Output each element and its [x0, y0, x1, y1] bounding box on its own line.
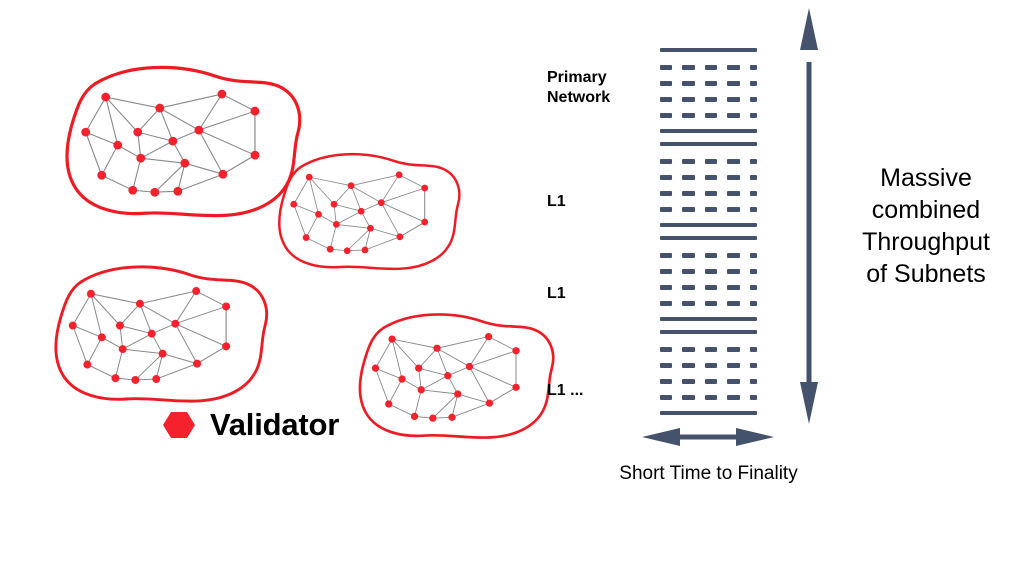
validator-node [421, 219, 428, 226]
layer-dash [750, 395, 757, 400]
layer-dash [727, 395, 739, 400]
layer-dash [682, 301, 694, 306]
layer-l1-b [660, 236, 757, 321]
validator-node [218, 90, 227, 99]
layer-dash [705, 113, 717, 118]
layer-dash [660, 253, 672, 258]
layer-dash-row [660, 97, 757, 102]
validator-node [385, 400, 392, 407]
validator-node [362, 247, 369, 254]
layer-dash [750, 81, 757, 86]
layer-dash [682, 113, 694, 118]
layer-dash [660, 285, 672, 290]
subnet-cluster-3 [45, 262, 280, 411]
layer-dash [660, 175, 672, 180]
validator-node [159, 350, 167, 358]
layer-top-rule [660, 48, 757, 52]
validator-node [444, 372, 451, 379]
layer-dash [682, 379, 694, 384]
layer-dash [750, 65, 757, 70]
validator-node [111, 374, 119, 382]
layer-dash [682, 253, 694, 258]
layer-dash [682, 395, 694, 400]
layer-dash [660, 395, 672, 400]
layer-dash [660, 301, 672, 306]
validator-node [466, 363, 473, 370]
stack-label-2: L1 [547, 192, 652, 212]
validator-node [327, 246, 334, 253]
layer-dash [727, 175, 739, 180]
validator-node [133, 128, 142, 137]
layer-dash [727, 207, 739, 212]
layer-dash-row [660, 395, 757, 400]
validator-node [101, 93, 110, 102]
layer-dash-row [660, 81, 757, 86]
layer-dash [705, 97, 717, 102]
validator-node [131, 376, 139, 384]
validator-node [331, 201, 338, 208]
layer-dash [727, 379, 739, 384]
layer-dash-row [660, 113, 757, 118]
validator-node [251, 107, 260, 116]
stack-label-3: L1 [547, 284, 652, 304]
subnet-cluster-2 [270, 150, 471, 277]
layer-dash-row [660, 175, 757, 180]
layer-dash [705, 285, 717, 290]
validator-node [378, 199, 385, 206]
layer-dash-row [660, 363, 757, 368]
layer-dash [660, 269, 672, 274]
layer-dash [682, 363, 694, 368]
layer-dash [682, 159, 694, 164]
layer-dash [727, 269, 739, 274]
subnet-cluster-4 [350, 310, 566, 446]
validator-node [98, 333, 106, 341]
validator-node [155, 104, 164, 113]
validator-node [448, 414, 455, 421]
validator-node [415, 365, 422, 372]
layer-dash [660, 159, 672, 164]
layer-dash [750, 253, 757, 258]
validator-node [418, 386, 425, 393]
layer-dash [660, 113, 672, 118]
subnet-boundary [279, 154, 459, 269]
layer-dash [705, 301, 717, 306]
layer-dash [727, 363, 739, 368]
validator-node [150, 188, 159, 197]
layer-dash-row [660, 301, 757, 306]
validator-node [87, 290, 95, 298]
layer-dash [727, 81, 739, 86]
layer-dash [705, 207, 717, 212]
layer-dash [705, 81, 717, 86]
layer-dash [727, 285, 739, 290]
layer-top-rule [660, 330, 757, 334]
validator-node [83, 361, 91, 369]
layer-dash [750, 207, 757, 212]
layer-dash [727, 65, 739, 70]
layer-dash [705, 191, 717, 196]
validator-node [180, 159, 189, 168]
layer-dash [660, 363, 672, 368]
diagram-canvas: Validator Primary NetworkL1L1L1 ... Mass… [0, 0, 1020, 571]
layer-dash [705, 175, 717, 180]
layer-dash [705, 395, 717, 400]
layer-dash-row [660, 269, 757, 274]
layer-dash [727, 97, 739, 102]
validator-node [411, 413, 418, 420]
layer-dash [705, 347, 717, 352]
layer-dash [750, 97, 757, 102]
layer-dash-row [660, 65, 757, 70]
layer-bottom-rule [660, 411, 757, 415]
validator-node [512, 347, 519, 354]
layer-top-rule [660, 142, 757, 146]
validator-node [81, 128, 90, 137]
validator-node [398, 375, 405, 382]
layer-stack [660, 48, 757, 416]
layer-dash [682, 81, 694, 86]
hexagon-icon [162, 408, 196, 442]
validator-node [306, 174, 313, 181]
layer-dash [750, 301, 757, 306]
layer-dash [660, 207, 672, 212]
validator-node [333, 221, 340, 228]
layer-bottom-rule [660, 317, 757, 321]
layer-dash [660, 347, 672, 352]
validator-node [136, 154, 145, 163]
validator-node [344, 247, 351, 254]
layer-dash [660, 81, 672, 86]
validator-node [429, 414, 436, 421]
layer-dash [727, 347, 739, 352]
validator-node [97, 171, 106, 180]
layer-dash [682, 269, 694, 274]
layer-dash [682, 97, 694, 102]
validator-node [485, 333, 492, 340]
throughput-caption: Massive combined Throughput of Subnets [836, 162, 1016, 290]
layer-dash-row [660, 159, 757, 164]
finality-arrow [640, 423, 776, 451]
validator-node [222, 302, 230, 310]
validator-node [251, 151, 260, 160]
layer-dash [705, 253, 717, 258]
layer-primary-network [660, 48, 757, 133]
validator-node [113, 141, 122, 150]
layer-dash [727, 191, 739, 196]
layer-dash [682, 207, 694, 212]
validator-node [303, 234, 310, 241]
validator-node [512, 384, 519, 391]
layer-dash [660, 97, 672, 102]
validator-node [136, 300, 144, 308]
layer-l1-a [660, 142, 757, 227]
layer-dash-row [660, 347, 757, 352]
validator-node [348, 182, 355, 189]
layer-bottom-rule [660, 129, 757, 133]
layer-dash [705, 269, 717, 274]
layer-dash [660, 379, 672, 384]
layer-dash [682, 175, 694, 180]
validator-node [367, 225, 374, 232]
legend-label: Validator [210, 407, 339, 443]
validator-node [396, 171, 403, 178]
layer-dash [750, 379, 757, 384]
subnet-boundary [360, 314, 553, 437]
layer-dash [682, 191, 694, 196]
validator-node [171, 320, 179, 328]
validator-node [148, 330, 156, 338]
subnet-boundary [56, 267, 267, 401]
layer-dash [705, 159, 717, 164]
layer-dash-row [660, 253, 757, 258]
layer-dash [727, 113, 739, 118]
validator-node [69, 322, 77, 330]
validator-node [433, 345, 440, 352]
validator-legend: Validator [162, 407, 339, 443]
layer-dash [682, 65, 694, 70]
layer-dash [750, 191, 757, 196]
layer-dash [750, 269, 757, 274]
layer-dash [727, 159, 739, 164]
layer-l1-c [660, 330, 757, 415]
validator-node [396, 233, 403, 240]
validator-node [152, 375, 160, 383]
validator-node [192, 287, 200, 295]
layer-dash [682, 285, 694, 290]
subnet-boundary [67, 67, 300, 215]
layer-dash [705, 379, 717, 384]
validator-node [315, 211, 322, 218]
validator-node [128, 186, 137, 195]
stack-label-4: L1 ... [547, 381, 652, 401]
layer-dash [682, 347, 694, 352]
validator-node [173, 187, 182, 196]
validator-node [194, 126, 203, 135]
layer-bottom-rule [660, 223, 757, 227]
layer-dash [750, 159, 757, 164]
layer-dash [705, 363, 717, 368]
layer-dash [750, 175, 757, 180]
validator-node [222, 342, 230, 350]
layer-dash-row [660, 379, 757, 384]
validator-node [116, 322, 124, 330]
finality-caption: Short Time to Finality [586, 463, 831, 485]
layer-dash-row [660, 191, 757, 196]
layer-dash [727, 253, 739, 258]
throughput-arrow [795, 44, 823, 426]
validator-node [421, 185, 428, 192]
layer-dash [705, 65, 717, 70]
layer-dash [750, 363, 757, 368]
layer-dash [660, 65, 672, 70]
validator-node [168, 137, 177, 146]
validator-node [358, 208, 365, 215]
validator-node [388, 335, 395, 342]
validator-node [290, 201, 297, 208]
layer-top-rule [660, 236, 757, 240]
layer-dash [750, 113, 757, 118]
layer-dash [727, 301, 739, 306]
validator-node [454, 390, 461, 397]
validator-node [193, 360, 201, 368]
layer-dash [660, 191, 672, 196]
validator-node [372, 365, 379, 372]
stack-label-1: Primary Network [547, 68, 652, 109]
layer-dash-row [660, 207, 757, 212]
validator-node [486, 399, 493, 406]
layer-dash [750, 285, 757, 290]
validator-node [219, 170, 228, 179]
validator-node [119, 345, 127, 353]
layer-dash-row [660, 285, 757, 290]
layer-dash [750, 347, 757, 352]
